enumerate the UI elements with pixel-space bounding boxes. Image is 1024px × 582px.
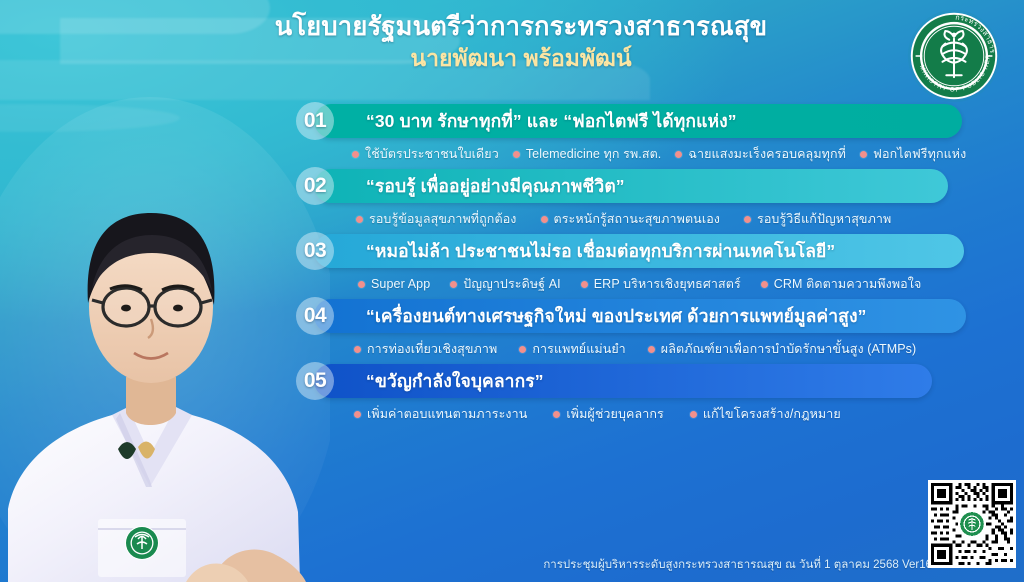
list-item: CRM ติดตามความพึงพอใจ [761, 274, 922, 294]
list-item: ฟอกไตฟรีทุกแห่ง [860, 144, 966, 164]
list-item: รอบรู้วิธีแก้ปัญหาสุขภาพ [744, 209, 891, 229]
policy-item-02[interactable]: 02 “รอบรู้ เพื่ออยู่อย่างมีคุณภาพชีวิต” … [296, 169, 996, 229]
list-item: รอบรู้ข้อมูลสุขภาพที่ถูกต้อง [356, 209, 517, 229]
policy-bullets-03: Super App ปัญญาประดิษฐ์ AI ERP บริหารเชิ… [296, 268, 996, 294]
policy-bar-row-04: 04 “เครื่องยนต์ทางเศรษฐกิจใหม่ ของประเทศ… [296, 299, 996, 333]
policy-item-01[interactable]: 01 “30 บาท รักษาทุกที่” และ “ฟอกไตฟรี ได… [296, 104, 996, 164]
policy-list: 01 “30 บาท รักษาทุกที่” และ “ฟอกไตฟรี ได… [296, 104, 996, 429]
qr-center-logo-icon [958, 510, 986, 538]
bullet-dot-icon [744, 216, 751, 223]
list-item: Super App [358, 277, 430, 291]
policy-item-05[interactable]: 05 “ขวัญกำลังใจบุคลากร” เพิ่มค่าตอบแทนตา… [296, 364, 996, 424]
footer-note: การประชุมผู้บริหารระดับสูงกระทรวงสาธารณส… [543, 556, 932, 574]
list-item: ใช้บัตรประชาชนใบเดียว [352, 144, 499, 164]
bullet-dot-icon [581, 281, 588, 288]
bullet-dot-icon [553, 411, 560, 418]
bullet-dot-icon [860, 151, 867, 158]
bullet-dot-icon [354, 346, 361, 353]
policy-bar-row-02: 02 “รอบรู้ เพื่ออยู่อย่างมีคุณภาพชีวิต” [296, 169, 996, 203]
list-item: เพิ่มค่าตอบแทนตามภาระงาน [354, 404, 527, 424]
policy-bullets-01: ใช้บัตรประชาชนใบเดียว Telemedicine ทุก ร… [296, 138, 996, 164]
list-item: ปัญญาประดิษฐ์ AI [450, 274, 560, 294]
policy-bullets-02: รอบรู้ข้อมูลสุขภาพที่ถูกต้อง ตระหนักรู้ส… [296, 203, 996, 229]
decorative-wave-4 [0, 104, 180, 132]
policy-bullets-05: เพิ่มค่าตอบแทนตามภาระงาน เพิ่มผู้ช่วยบุค… [296, 398, 996, 424]
list-item: ตระหนักรู้สถานะสุขภาพตนเอง [541, 209, 721, 229]
list-item: แก้ไขโครงสร้าง/กฎหมาย [690, 404, 841, 424]
policy-number-badge-04: 04 [296, 297, 334, 335]
policy-number-badge-01: 01 [296, 102, 334, 140]
bullet-dot-icon [675, 151, 682, 158]
qr-code[interactable] [928, 480, 1016, 568]
list-item: ฉายแสงมะเร็งครอบคลุมทุกที่ [675, 144, 846, 164]
minister-name: นายพัฒนา พร้อมพัฒน์ [236, 44, 806, 74]
list-item: การท่องเที่ยวเชิงสุขภาพ [354, 339, 497, 359]
policy-bar-row-03: 03 “หมอไม่ล้า ประชาชนไม่รอ เชื่อมต่อทุกบ… [296, 234, 996, 268]
list-item: ผลิตภัณฑ์ยาเพื่อการบำบัดรักษาขั้นสูง (AT… [648, 339, 917, 359]
list-item: Telemedicine ทุก รพ.สต. [513, 144, 662, 164]
bullet-dot-icon [356, 216, 363, 223]
bullet-dot-icon [354, 411, 361, 418]
list-item: ERP บริหารเชิงยุทธศาสตร์ [581, 274, 741, 294]
policy-title-02: “รอบรู้ เพื่ออยู่อย่างมีคุณภาพชีวิต” [314, 172, 625, 200]
bullet-dot-icon [513, 151, 520, 158]
bullet-dot-icon [648, 346, 655, 353]
policy-number-badge-03: 03 [296, 232, 334, 270]
bullet-dot-icon [761, 281, 768, 288]
bullet-dot-icon [519, 346, 526, 353]
bullet-dot-icon [450, 281, 457, 288]
minister-portrait [0, 57, 330, 582]
bullet-dot-icon [352, 151, 359, 158]
policy-title-01: “30 บาท รักษาทุกที่” และ “ฟอกไตฟรี ได้ทุ… [314, 107, 737, 135]
policy-item-04[interactable]: 04 “เครื่องยนต์ทางเศรษฐกิจใหม่ ของประเทศ… [296, 299, 996, 359]
policy-title-03: “หมอไม่ล้า ประชาชนไม่รอ เชื่อมต่อทุกบริก… [314, 237, 835, 265]
slide-canvas: นโยบายรัฐมนตรีว่าการกระทรวงสาธารณสุข นาย… [0, 0, 1024, 582]
policy-item-03[interactable]: 03 “หมอไม่ล้า ประชาชนไม่รอ เชื่อมต่อทุกบ… [296, 234, 996, 294]
header: นโยบายรัฐมนตรีว่าการกระทรวงสาธารณสุข นาย… [236, 12, 806, 74]
policy-bar-row-01: 01 “30 บาท รักษาทุกที่” และ “ฟอกไตฟรี ได… [296, 104, 996, 138]
policy-title-04: “เครื่องยนต์ทางเศรษฐกิจใหม่ ของประเทศ ด้… [314, 302, 866, 330]
ministry-of-public-health-logo-icon: กระทรวงสาธารณสุข MINISTRY OF PUBLIC HEAL… [906, 8, 1002, 104]
list-item: การแพทย์แม่นยำ [519, 339, 625, 359]
policy-bar-row-05: 05 “ขวัญกำลังใจบุคลากร” [296, 364, 996, 398]
policy-bullets-04: การท่องเที่ยวเชิงสุขภาพ การแพทย์แม่นยำ ผ… [296, 333, 996, 359]
page-title: นโยบายรัฐมนตรีว่าการกระทรวงสาธารณสุข [236, 12, 806, 43]
policy-number-badge-02: 02 [296, 167, 334, 205]
policy-number-badge-05: 05 [296, 362, 334, 400]
bullet-dot-icon [541, 216, 548, 223]
list-item: เพิ่มผู้ช่วยบุคลากร [553, 404, 663, 424]
bullet-dot-icon [358, 281, 365, 288]
bullet-dot-icon [690, 411, 697, 418]
policy-title-05: “ขวัญกำลังใจบุคลากร” [314, 367, 544, 395]
